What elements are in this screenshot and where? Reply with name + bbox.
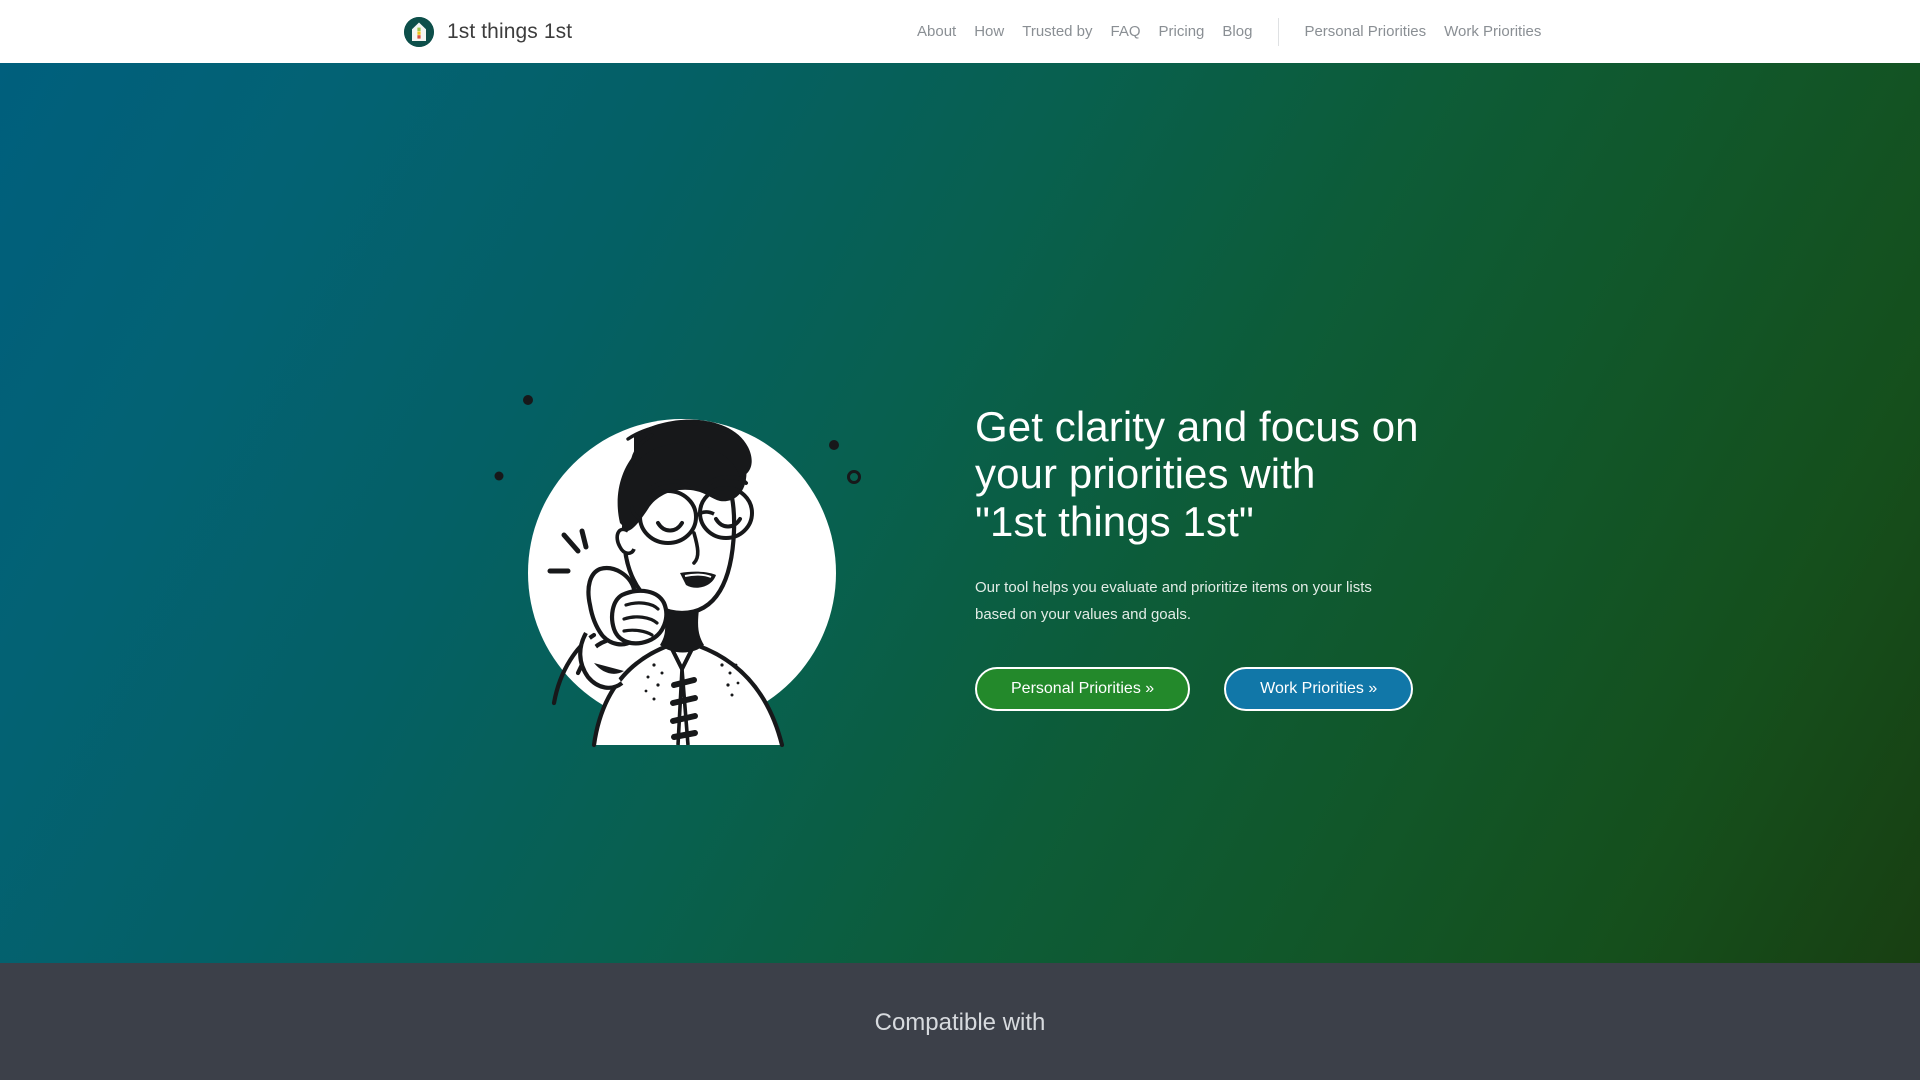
nav-link-trusted-by[interactable]: Trusted by xyxy=(1013,23,1101,40)
site-header: 1st things 1st About How Trusted by FAQ … xyxy=(0,0,1920,63)
compatible-with-title: Compatible with xyxy=(875,1009,1046,1080)
house-arrow-logo-icon xyxy=(404,17,434,47)
hero-title-line-2: your priorities with xyxy=(975,450,1315,497)
work-priorities-button[interactable]: Work Priorities » xyxy=(1224,667,1413,711)
nav-link-personal-priorities[interactable]: Personal Priorities xyxy=(1295,23,1435,40)
nav-link-work-priorities[interactable]: Work Priorities xyxy=(1435,23,1550,40)
hero-subtitle: Our tool helps you evaluate and prioriti… xyxy=(975,575,1405,628)
hero-title-line-1: Get clarity and focus on xyxy=(975,403,1419,450)
brand-logo-link[interactable]: 1st things 1st xyxy=(404,17,572,47)
nav-divider xyxy=(1278,18,1279,46)
nav-link-how[interactable]: How xyxy=(965,23,1013,40)
personal-priorities-button[interactable]: Personal Priorities » xyxy=(975,667,1190,711)
hero-subtitle-line-2: based on your values and goals. xyxy=(975,606,1191,623)
hero-section: Get clarity and focus on your priorities… xyxy=(0,63,1920,963)
nav-link-about[interactable]: About xyxy=(908,23,965,40)
nav-link-pricing[interactable]: Pricing xyxy=(1150,23,1214,40)
brand-name: 1st things 1st xyxy=(447,20,572,44)
nav-link-blog[interactable]: Blog xyxy=(1213,23,1261,40)
hero-copy: Get clarity and focus on your priorities… xyxy=(975,403,1535,711)
hero-subtitle-line-1: Our tool helps you evaluate and prioriti… xyxy=(975,579,1372,596)
main-navigation: About How Trusted by FAQ Pricing Blog Pe… xyxy=(908,18,1550,46)
compatible-with-section: Compatible with xyxy=(0,963,1920,1080)
hero-title-line-3: "1st things 1st" xyxy=(975,498,1254,545)
nav-link-faq[interactable]: FAQ xyxy=(1102,23,1150,40)
page-title: Get clarity and focus on your priorities… xyxy=(975,403,1535,545)
man-thumbs-up-illustration xyxy=(482,373,882,773)
hero-cta-group: Personal Priorities » Work Priorities » xyxy=(975,667,1535,711)
